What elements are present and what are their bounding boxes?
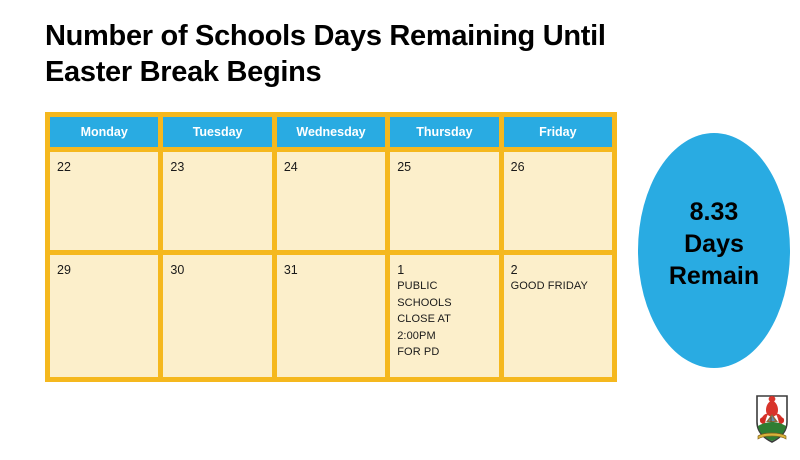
calendar-header-row: Monday Tuesday Wednesday Thursday Friday — [50, 117, 612, 147]
calendar-day-cell: 30 — [163, 255, 271, 377]
calendar-day-cell: 29 — [50, 255, 158, 377]
calendar-table: Monday Tuesday Wednesday Thursday Friday… — [45, 112, 617, 382]
calendar-day-cell: 31 — [277, 255, 385, 377]
calendar-day-cell: 24 — [277, 152, 385, 250]
cell-date: 29 — [57, 262, 158, 278]
calendar-day-cell: 23 — [163, 152, 271, 250]
cell-date: 24 — [284, 159, 385, 175]
countdown-verb: Remain — [669, 260, 759, 292]
calendar-day-cell: 26 — [504, 152, 612, 250]
day-header-monday: Monday — [50, 117, 158, 147]
page-title-line-2: Easter Break Begins — [45, 54, 705, 90]
cell-date: 1 — [397, 262, 498, 278]
cell-date: 23 — [170, 159, 271, 175]
cell-date: 22 — [57, 159, 158, 175]
cell-note: PUBLICSCHOOLSCLOSE AT2:00PMFOR PD — [397, 278, 498, 361]
cell-date: 30 — [170, 262, 271, 278]
cell-date: 2 — [511, 262, 612, 278]
calendar-week-row: 22 23 24 25 26 — [50, 152, 612, 250]
countdown-callout: 8.33 Days Remain — [638, 133, 790, 368]
cell-date: 25 — [397, 159, 498, 175]
calendar-day-cell: 25 — [390, 152, 498, 250]
bermuda-coat-of-arms-icon — [752, 392, 792, 448]
day-header-friday: Friday — [504, 117, 612, 147]
cell-date: 26 — [511, 159, 612, 175]
countdown-unit: Days — [684, 228, 744, 260]
countdown-value: 8.33 — [690, 196, 739, 228]
day-header-wednesday: Wednesday — [277, 117, 385, 147]
day-header-thursday: Thursday — [390, 117, 498, 147]
calendar-week-row: 29 30 31 1 PUBLICSCHOOLSCLOSE AT2:00PMFO… — [50, 255, 612, 377]
day-header-tuesday: Tuesday — [163, 117, 271, 147]
cell-date: 31 — [284, 262, 385, 278]
calendar-day-cell: 22 — [50, 152, 158, 250]
calendar-day-cell: 2 GOOD FRIDAY — [504, 255, 612, 377]
page-title: Number of Schools Days Remaining Until E… — [45, 18, 705, 90]
cell-note: GOOD FRIDAY — [511, 278, 612, 295]
page-title-line-1: Number of Schools Days Remaining Until — [45, 18, 705, 54]
calendar-day-cell: 1 PUBLICSCHOOLSCLOSE AT2:00PMFOR PD — [390, 255, 498, 377]
